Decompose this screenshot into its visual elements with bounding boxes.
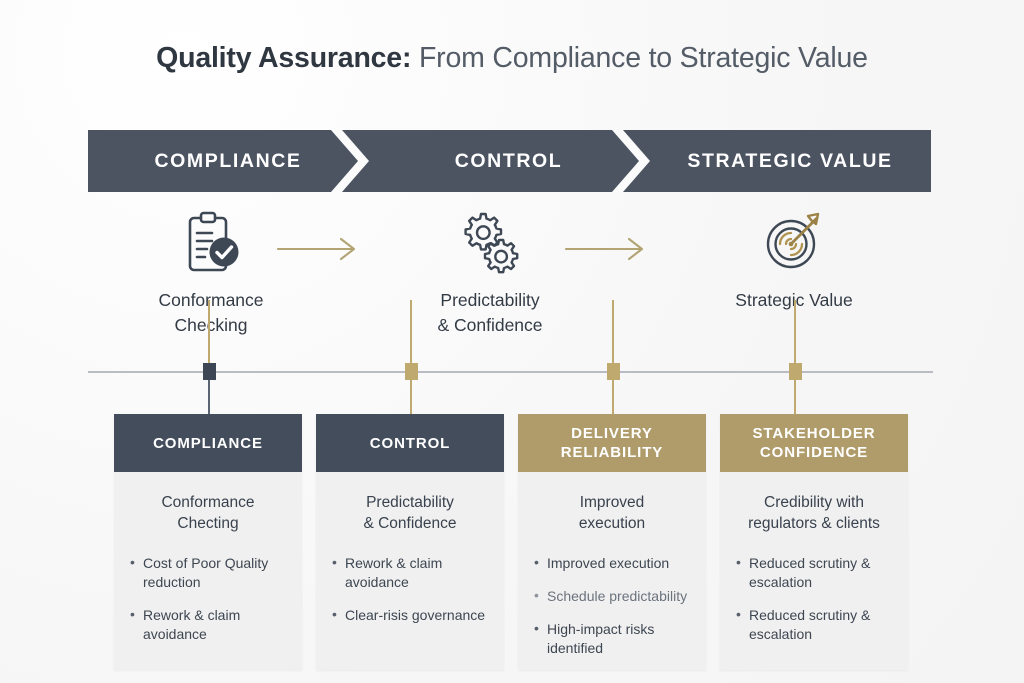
card-stakeholder-confidence[interactable]: STAKEHOLDER CONFIDENCE Credibility with … (720, 414, 908, 670)
card-bullets-compliance: Cost of Poor Quality reduction Rework & … (114, 554, 302, 644)
list-item: Reduced scrutiny & escalation (736, 606, 894, 644)
infographic-canvas: Quality Assurance: From Compliance to St… (0, 0, 1024, 683)
card-delivery-reliability[interactable]: DELIVERY RELIABILITY Improved execution … (518, 414, 706, 670)
card-header-delivery-reliability: DELIVERY RELIABILITY (518, 414, 706, 472)
icon-caption-line2: & Confidence (370, 313, 610, 338)
card-header-control: CONTROL (316, 414, 504, 472)
chevron-arrow-icon (612, 130, 650, 192)
card-control[interactable]: CONTROL Predictability & Confidence Rewo… (316, 414, 504, 670)
chevron-label-strategic-value: STRATEGIC VALUE (687, 150, 892, 173)
card-subtitle-line1: Predictability (326, 492, 494, 513)
stage-chevron-banner: COMPLIANCE CONTROL STRATEGIC VALUE (88, 130, 931, 192)
list-item: Rework & claim avoidance (332, 554, 490, 592)
card-subtitle-control: Predictability & Confidence (316, 492, 504, 534)
icon-block-conformance-checking: Conformance Checking (91, 208, 331, 338)
card-subtitle-line2: & Confidence (326, 513, 494, 534)
chevron-arrow-icon (331, 130, 369, 192)
card-bullets-control: Rework & claim avoidance Clear-risis gov… (316, 554, 504, 625)
card-subtitle-line2: regulators & clients (730, 513, 898, 534)
card-bullets-stakeholder-confidence: Reduced scrutiny & escalation Reduced sc… (720, 554, 908, 644)
card-subtitle-line1: Credibility with (730, 492, 898, 513)
card-subtitle-line2: execution (528, 513, 696, 534)
timeline-stem-down-4 (794, 378, 796, 414)
timeline-stem-up-4 (794, 300, 796, 364)
icon-caption-line1: Conformance (91, 288, 331, 313)
timeline-marker-1[interactable] (203, 363, 216, 380)
list-item: Rework & claim avoidance (130, 606, 288, 644)
list-item: Clear-risis governance (332, 606, 490, 625)
timeline-stem-up-3 (612, 300, 614, 364)
card-subtitle-stakeholder-confidence: Credibility with regulators & clients (720, 492, 908, 534)
chevron-label-control: CONTROL (455, 150, 563, 173)
card-subtitle-line2: Checting (124, 513, 292, 534)
timeline-marker-3[interactable] (607, 363, 620, 380)
icon-caption-line1: Predictability (370, 288, 610, 313)
card-header-stakeholder-confidence: STAKEHOLDER CONFIDENCE (720, 414, 908, 472)
icon-block-predictability-confidence: Predictability & Confidence (370, 208, 610, 338)
list-item: Schedule predictability (534, 587, 692, 606)
timeline-stem-down-3 (612, 378, 614, 414)
card-subtitle-line1: Improved (528, 492, 696, 513)
target-arrow-icon (674, 208, 914, 276)
timeline-stem-down-1 (208, 378, 210, 414)
card-header-compliance: COMPLIANCE (114, 414, 302, 472)
card-bullets-delivery-reliability: Improved execution Schedule predictabili… (518, 554, 706, 658)
chevron-label-compliance: COMPLIANCE (154, 150, 301, 173)
card-subtitle-delivery-reliability: Improved execution (518, 492, 706, 534)
arrow-right-icon (565, 237, 651, 261)
chevron-segment-compliance[interactable]: COMPLIANCE (88, 130, 368, 192)
icon-caption-predictability-confidence: Predictability & Confidence (370, 288, 610, 338)
list-item: Improved execution (534, 554, 692, 573)
page-title-light: From Compliance to Strategic Value (411, 42, 868, 74)
timeline-stem-up-2 (410, 300, 412, 364)
icon-caption-line2: Checking (91, 313, 331, 338)
list-item: Reduced scrutiny & escalation (736, 554, 894, 592)
page-title: Quality Assurance: From Compliance to St… (0, 38, 1024, 78)
chevron-segment-strategic-value[interactable]: STRATEGIC VALUE (649, 130, 931, 192)
timeline-stem-down-2 (410, 378, 412, 414)
icon-caption-conformance-checking: Conformance Checking (91, 288, 331, 338)
card-subtitle-compliance: Conformance Checting (114, 492, 302, 534)
timeline-stem-up-1 (208, 300, 210, 364)
chevron-segment-control[interactable]: CONTROL (368, 130, 649, 192)
list-item: Cost of Poor Quality reduction (130, 554, 288, 592)
card-compliance[interactable]: COMPLIANCE Conformance Checting Cost of … (114, 414, 302, 670)
arrow-right-icon (277, 237, 363, 261)
timeline-marker-2[interactable] (405, 363, 418, 380)
page-title-strong: Quality Assurance: (156, 42, 411, 74)
timeline-marker-4[interactable] (789, 363, 802, 380)
card-subtitle-line1: Conformance (124, 492, 292, 513)
icon-block-strategic-value: Strategic Value (674, 208, 914, 313)
list-item: High-impact risks identified (534, 620, 692, 658)
